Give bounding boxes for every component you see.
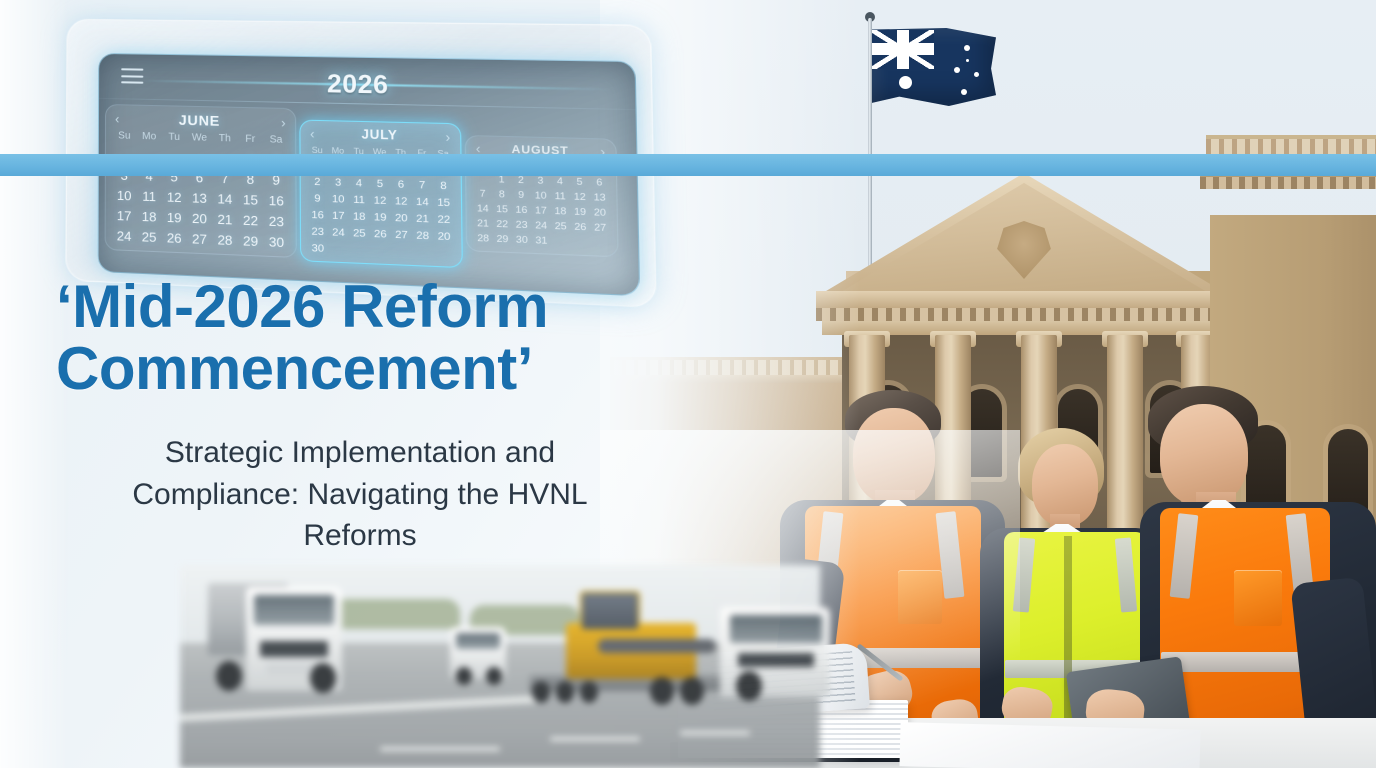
wheel: [216, 661, 242, 691]
day-cell[interactable]: 18: [137, 206, 162, 227]
empty-day-cell: .: [571, 235, 591, 251]
day-cell[interactable]: 30: [263, 231, 289, 253]
day-cell[interactable]: 11: [550, 188, 570, 204]
day-cell[interactable]: 22: [238, 209, 264, 231]
day-cell[interactable]: 28: [212, 229, 238, 251]
month-name: JULY: [318, 126, 443, 144]
day-cell[interactable]: 12: [570, 189, 590, 205]
day-cell[interactable]: 10: [328, 191, 349, 208]
day-cell[interactable]: 20: [391, 209, 412, 227]
day-cell[interactable]: 24: [531, 218, 551, 234]
weekday-label: Fr: [237, 132, 263, 148]
day-cell[interactable]: 7: [411, 177, 432, 194]
day-cell[interactable]: 16: [263, 190, 289, 212]
day-cell[interactable]: 8: [492, 187, 512, 203]
wheel: [736, 671, 762, 701]
day-cell[interactable]: 4: [348, 175, 369, 192]
day-cell[interactable]: 14: [473, 201, 492, 217]
lane-marking: [380, 747, 500, 751]
day-cell[interactable]: 26: [370, 225, 391, 243]
headline-line-2: Commencement’: [56, 338, 676, 400]
day-cell[interactable]: 27: [187, 228, 212, 250]
day-cell[interactable]: 16: [307, 206, 328, 223]
day-cell[interactable]: 6: [390, 176, 411, 193]
windscreen: [254, 595, 334, 625]
loose-papers: [899, 722, 1200, 768]
grille: [260, 641, 328, 657]
day-cell[interactable]: 15: [492, 202, 512, 218]
day-cell[interactable]: 26: [570, 219, 590, 235]
day-cell[interactable]: 23: [263, 210, 289, 232]
day-cell[interactable]: 19: [370, 209, 391, 227]
day-cell[interactable]: 21: [212, 208, 238, 229]
day-cell[interactable]: 29: [238, 230, 264, 252]
day-cell[interactable]: 25: [349, 225, 370, 243]
day-cell[interactable]: 20: [590, 205, 610, 221]
page-title: ‘Mid-2026 Reform Commencement’: [56, 276, 676, 401]
month-name: JUNE: [122, 110, 278, 130]
grille: [738, 653, 814, 667]
day-cell[interactable]: 10: [112, 185, 137, 206]
day-cell[interactable]: 13: [590, 190, 610, 206]
day-cell[interactable]: 18: [551, 204, 571, 220]
day-cell[interactable]: 12: [162, 186, 187, 207]
wheel: [310, 663, 336, 693]
empty-day-cell: .: [391, 243, 412, 261]
day-cell[interactable]: 25: [551, 219, 571, 235]
page-subtitle: Strategic Implementation and Compliance:…: [120, 432, 600, 557]
highway-vehicles: [180, 565, 820, 768]
day-cell[interactable]: 21: [473, 216, 492, 232]
wheel: [532, 681, 550, 703]
month-header: ‹JUNE›: [112, 110, 289, 130]
day-cell[interactable]: 16: [512, 202, 532, 218]
day-cell[interactable]: 28: [473, 231, 492, 247]
day-cell[interactable]: 9: [511, 187, 531, 203]
windscreen: [456, 633, 500, 649]
weekday-label: Mo: [137, 130, 162, 146]
vest-pocket: [898, 570, 942, 624]
day-cell[interactable]: 24: [112, 225, 137, 246]
day-cell[interactable]: 21: [412, 210, 433, 228]
day-cell[interactable]: 22: [493, 217, 513, 233]
weekday-label: We: [187, 131, 212, 147]
weekday-label: Sa: [263, 133, 289, 149]
day-cell[interactable]: 31: [531, 233, 551, 249]
day-cell[interactable]: 11: [137, 185, 162, 206]
wheel: [486, 667, 502, 685]
treeline: [330, 599, 460, 629]
wheel: [680, 677, 704, 705]
day-cell[interactable]: 17: [112, 205, 137, 226]
day-cell[interactable]: 24: [328, 224, 349, 241]
day-cell[interactable]: 23: [512, 217, 532, 233]
day-cell[interactable]: 20: [433, 228, 455, 246]
month-july[interactable]: ‹JULY›SuMoTuWeThFrSa......12345678910111…: [299, 120, 463, 269]
day-cell[interactable]: 23: [307, 223, 328, 240]
next-month-icon[interactable]: ›: [278, 115, 289, 129]
excavator-boom: [598, 639, 716, 653]
day-cell[interactable]: 6: [589, 174, 609, 190]
lane-marking: [680, 731, 750, 735]
day-cell[interactable]: 12: [390, 193, 411, 211]
day-cell[interactable]: 8: [433, 177, 455, 195]
accent-band: [0, 154, 1376, 176]
weekday-label: Tu: [162, 130, 187, 146]
day-cell[interactable]: 5: [570, 174, 590, 190]
wheel: [650, 677, 674, 705]
day-cell[interactable]: 28: [412, 227, 433, 245]
day-cell[interactable]: 19: [570, 204, 590, 220]
day-cell[interactable]: 14: [212, 188, 238, 209]
weekday-label: Su: [112, 129, 137, 145]
day-cell[interactable]: 20: [187, 207, 212, 228]
month-header: ‹JULY›: [307, 126, 454, 144]
day-cell[interactable]: 5: [369, 175, 390, 192]
weekday-label: Th: [212, 132, 237, 148]
headline-line-1: ‘Mid-2026 Reform: [56, 273, 548, 340]
day-cell[interactable]: 27: [590, 220, 610, 236]
day-cell[interactable]: 13: [187, 187, 212, 208]
day-cell[interactable]: 14: [412, 193, 433, 211]
empty-day-cell: .: [590, 235, 610, 251]
wheel: [580, 681, 598, 703]
prev-month-icon[interactable]: ‹: [307, 126, 318, 140]
day-cell[interactable]: 15: [238, 189, 264, 210]
day-cell[interactable]: 30: [512, 233, 532, 249]
day-cell[interactable]: 29: [493, 232, 513, 248]
excavator-cab: [580, 591, 640, 631]
next-month-icon[interactable]: ›: [442, 130, 454, 144]
wheel: [556, 681, 574, 703]
empty-day-cell: .: [370, 242, 391, 260]
day-cell[interactable]: 17: [531, 203, 551, 219]
day-cell[interactable]: 12: [369, 192, 390, 209]
day-cell[interactable]: 15: [433, 194, 455, 212]
day-cell[interactable]: 22: [433, 211, 455, 229]
day-cell[interactable]: 18: [349, 208, 370, 225]
head: [1160, 404, 1248, 506]
day-cell[interactable]: 17: [328, 207, 349, 224]
vest-pocket: [1234, 570, 1282, 626]
poster-canvas: 2026 ‹JUNE›SuMoTuWeThFrSa.....1234567891…: [0, 0, 1376, 768]
wheel: [456, 667, 472, 685]
day-cell[interactable]: 11: [349, 191, 370, 208]
prev-month-icon[interactable]: ‹: [112, 112, 122, 125]
day-cell[interactable]: 19: [162, 206, 187, 227]
day-cell[interactable]: 9: [307, 190, 328, 207]
day-cell[interactable]: 30: [307, 240, 328, 258]
day-cell[interactable]: 7: [473, 186, 492, 202]
empty-day-cell: .: [412, 244, 433, 262]
months-container: ‹JUNE›SuMoTuWeThFrSa.....123456789101112…: [105, 104, 635, 293]
day-cell[interactable]: 3: [328, 174, 349, 191]
empty-day-cell: .: [551, 234, 571, 250]
day-cell[interactable]: 10: [531, 188, 551, 204]
day-cell[interactable]: 26: [162, 227, 187, 248]
lane-marking: [550, 737, 640, 741]
month-june[interactable]: ‹JUNE›SuMoTuWeThFrSa.....123456789101112…: [105, 104, 297, 258]
windscreen: [730, 615, 822, 643]
empty-day-cell: .: [433, 245, 455, 263]
empty-day-cell: .: [328, 241, 349, 259]
day-cell[interactable]: 25: [137, 226, 162, 247]
empty-day-cell: .: [349, 241, 370, 259]
day-cell[interactable]: 27: [391, 226, 412, 244]
